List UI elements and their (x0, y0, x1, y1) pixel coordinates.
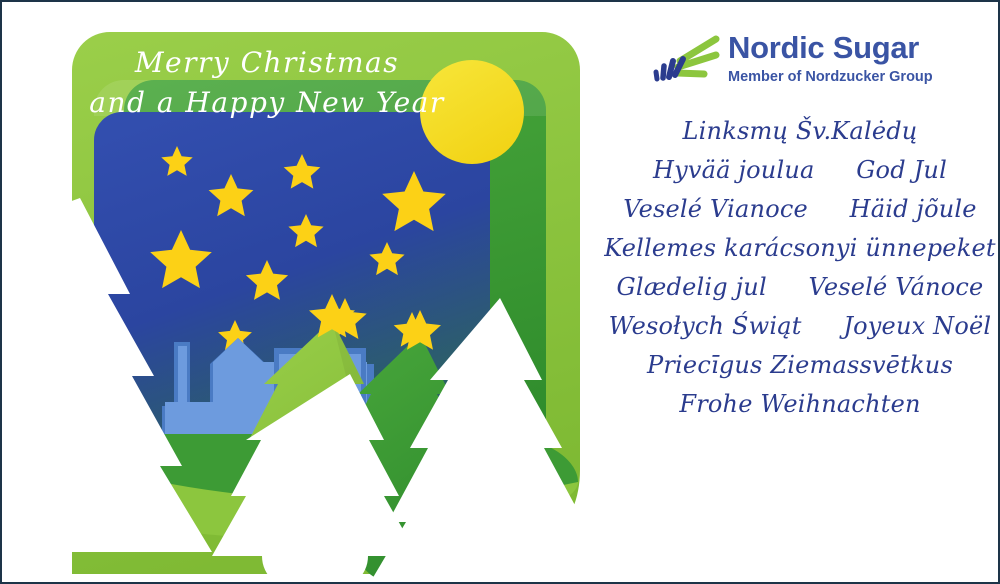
greeting-line: Linksmų Šv.Kalėdų (602, 112, 998, 151)
headline-line-2: and a Happy New Year (89, 86, 445, 119)
headline-line-1: Merry Christmas (134, 46, 399, 79)
greeting-line: Hyvää joulua God Jul (602, 151, 998, 190)
greeting-text: Glædelig jul (617, 268, 767, 307)
right-panel: Nordic Sugar Member of Nordzucker Group … (602, 2, 998, 582)
greeting-text: Veselé Vianoce (623, 190, 808, 229)
nordic-sugar-logo: Nordic Sugar Member of Nordzucker Group (650, 30, 990, 100)
christmas-card: Merry Christmas and a Happy New Year (0, 0, 1000, 584)
greeting-text: Hyvää joulua (653, 151, 814, 190)
greeting-text: Joyeux Noël (843, 307, 991, 346)
greeting-line: Veselé Vianoce Häid jõule (602, 190, 998, 229)
greeting-text: Häid jõule (850, 190, 977, 229)
illustration: Merry Christmas and a Happy New Year (2, 2, 602, 582)
greeting-line: Priecīgus Ziemassvētkus (602, 346, 998, 385)
greetings-list: Linksmų Šv.Kalėdų Hyvää joulua God Jul V… (602, 112, 998, 424)
greeting-line: Kellemes karácsonyi ünnepeket (602, 229, 998, 268)
logo-subtitle: Member of Nordzucker Group (728, 67, 988, 87)
greeting-text: God Jul (856, 151, 947, 190)
greeting-line: Wesołych Świąt Joyeux Noël (602, 307, 998, 346)
nordic-sugar-mark-icon (650, 34, 720, 92)
greeting-line: Frohe Weihnachten (602, 385, 998, 424)
greeting-line: Glædelig jul Veselé Vánoce (602, 268, 998, 307)
logo-title: Nordic Sugar (728, 30, 988, 66)
greeting-text: Veselé Vánoce (809, 268, 984, 307)
greeting-text: Wesołych Świąt (609, 307, 802, 346)
